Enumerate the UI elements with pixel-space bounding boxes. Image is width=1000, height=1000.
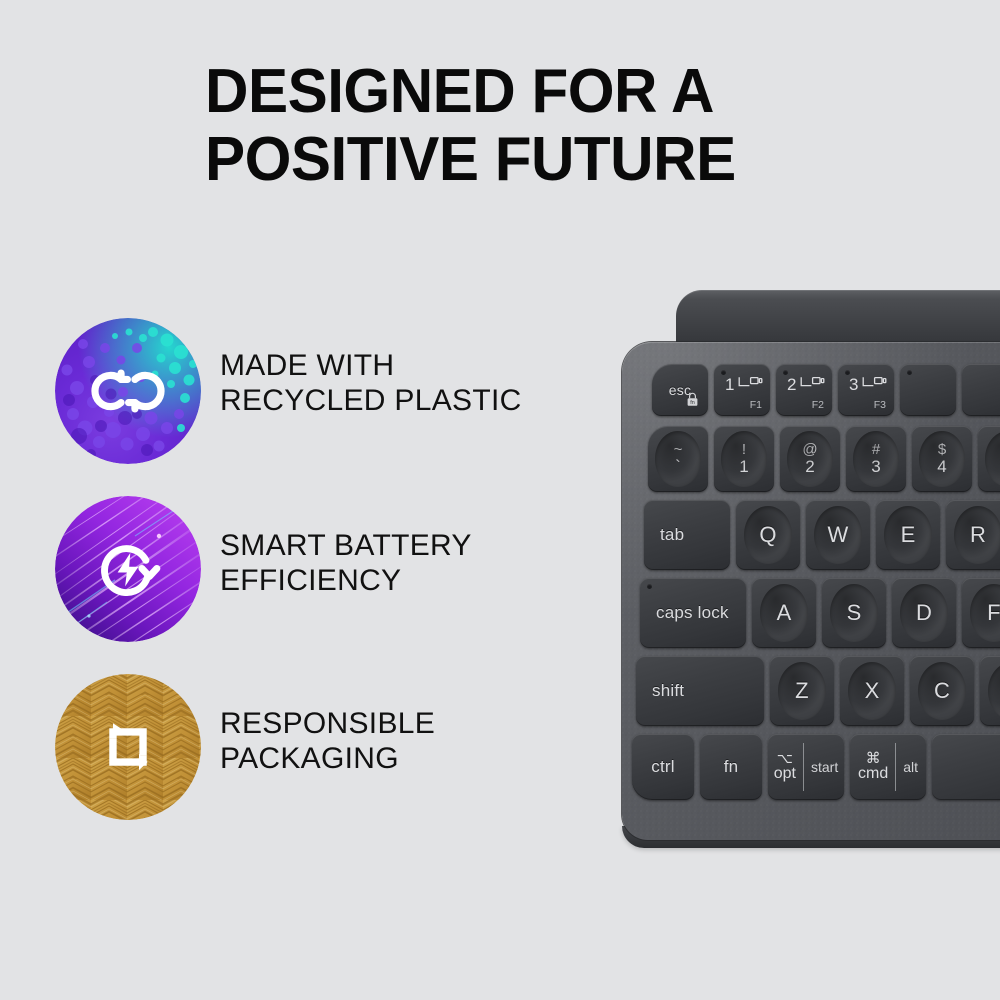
keyboard-key-grid: esc fn 1 [622, 342, 1000, 840]
caps-lock-led-indicator [647, 584, 652, 589]
key-w-label: W [828, 522, 849, 548]
key-5[interactable]: % 5 [978, 426, 1000, 492]
key-q[interactable]: Q [736, 500, 800, 570]
key-led-indicator [721, 370, 726, 375]
key-f2-number: 2 [787, 375, 796, 395]
key-f1-label: F1 [750, 399, 762, 411]
key-3-upper: # [872, 442, 880, 457]
badge-smart-battery [55, 496, 201, 642]
key-option-label: opt [774, 766, 796, 783]
key-e[interactable]: E [876, 500, 940, 570]
key-f2-device-2[interactable]: 2 F2 [776, 364, 832, 416]
key-d[interactable]: D [892, 578, 956, 648]
key-x[interactable]: X [840, 656, 904, 726]
key-f3-number: 3 [849, 375, 858, 395]
sustainability-feature-list: MADE WITH RECYCLED PLASTIC [55, 318, 615, 830]
key-a[interactable]: A [752, 578, 816, 648]
legend-divider [895, 743, 896, 792]
headline-line-1: DESIGNED FOR A [205, 57, 714, 126]
key-1-lower: 1 [739, 458, 748, 476]
modifier-row: ctrl fn ⌥ opt start [622, 734, 1000, 800]
badge-responsible-packaging [55, 674, 201, 820]
key-2-upper: @ [802, 442, 817, 457]
key-alt-label: alt [896, 751, 918, 784]
key-z-label: Z [795, 678, 809, 704]
number-row: ~ ` ! 1 @ 2 # 3 $ 4 [622, 426, 1000, 492]
key-tab-label: tab [644, 525, 684, 545]
key-fn[interactable]: fn [700, 734, 762, 800]
badge-recycled-plastic [55, 318, 201, 464]
key-4[interactable]: $ 4 [912, 426, 972, 492]
key-f2-label: F2 [812, 399, 824, 411]
key-fn-label: fn [724, 757, 739, 777]
key-d-label: D [916, 600, 932, 626]
page-title: DESIGNED FOR A POSITIVE FUTURE [205, 58, 903, 194]
shift-row: shift Z X C V B [622, 656, 1000, 726]
key-r[interactable]: R [946, 500, 1000, 570]
key-f-label: F [987, 600, 1000, 626]
device-switch-icon [737, 375, 763, 395]
command-symbol: ⌘ [866, 751, 881, 767]
key-led-indicator [845, 370, 850, 375]
key-f1-number: 1 [725, 375, 734, 395]
key-r-label: R [970, 522, 986, 548]
feature-item-recycled-plastic: MADE WITH RECYCLED PLASTIC [55, 318, 615, 474]
key-1[interactable]: ! 1 [714, 426, 774, 492]
key-f4[interactable] [900, 364, 956, 416]
key-ctrl-label: ctrl [651, 757, 674, 777]
device-switch-icon [861, 375, 887, 395]
option-symbol: ⌥ [777, 751, 793, 766]
feature-label-recycled-plastic: MADE WITH RECYCLED PLASTIC [220, 348, 522, 418]
key-v[interactable]: V [980, 656, 1000, 726]
key-c-label: C [934, 678, 950, 704]
key-tab[interactable]: tab [644, 500, 730, 570]
key-tilde-lower: ` [675, 458, 681, 476]
headline-line-2: POSITIVE FUTURE [205, 126, 903, 194]
key-4-upper: $ [938, 442, 946, 457]
wireless-keyboard-product: esc fn 1 [614, 290, 1000, 860]
feature-label-responsible-packaging: RESPONSIBLE PACKAGING [220, 706, 435, 776]
key-led-indicator [783, 370, 788, 375]
feature-item-smart-battery: SMART BATTERY EFFICIENCY [55, 496, 615, 652]
device-switch-icon [799, 375, 825, 395]
key-shift[interactable]: shift [636, 656, 764, 726]
key-2[interactable]: @ 2 [780, 426, 840, 492]
key-f[interactable]: F [962, 578, 1000, 648]
key-command-alt[interactable]: ⌘ cmd alt [850, 734, 926, 800]
key-s[interactable]: S [822, 578, 886, 648]
qwerty-row: tab Q W E R T [622, 500, 1000, 570]
key-shift-label: shift [636, 681, 684, 701]
key-f1-device-1[interactable]: 1 F1 [714, 364, 770, 416]
key-f3-device-3[interactable]: 3 F3 [838, 364, 894, 416]
fn-lock-icon: fn [686, 392, 699, 412]
key-1-upper: ! [742, 442, 746, 457]
key-2-lower: 2 [805, 458, 814, 476]
key-tilde[interactable]: ~ ` [648, 426, 708, 492]
key-esc[interactable]: esc fn [652, 364, 708, 416]
feature-label-smart-battery: SMART BATTERY EFFICIENCY [220, 528, 472, 598]
key-4-lower: 4 [937, 458, 946, 476]
product-feature-graphic: DESIGNED FOR A POSITIVE FUTURE [0, 0, 1000, 1000]
key-x-label: X [865, 678, 880, 704]
key-z[interactable]: Z [770, 656, 834, 726]
key-spacebar[interactable] [932, 734, 1000, 800]
function-row: esc fn 1 [622, 364, 1000, 416]
legend-divider [803, 743, 804, 790]
home-row: caps lock A S D F G [622, 578, 1000, 648]
battery-charge-cycle-icon [55, 496, 201, 642]
recycle-loop-icon [55, 318, 201, 464]
key-e-label: E [901, 522, 916, 548]
svg-text:fn: fn [690, 400, 695, 406]
key-q-label: Q [759, 522, 776, 548]
key-a-label: A [777, 600, 792, 626]
key-s-label: S [847, 600, 862, 626]
key-tilde-upper: ~ [674, 442, 683, 457]
key-start-label: start [804, 751, 838, 782]
key-ctrl[interactable]: ctrl [632, 734, 694, 800]
key-c[interactable]: C [910, 656, 974, 726]
key-option-start[interactable]: ⌥ opt start [768, 734, 844, 800]
key-led-indicator [907, 370, 912, 375]
key-w[interactable]: W [806, 500, 870, 570]
key-3[interactable]: # 3 [846, 426, 906, 492]
key-3-lower: 3 [871, 458, 880, 476]
package-reuse-icon [55, 674, 201, 820]
key-f5[interactable] [962, 364, 1000, 416]
key-f3-label: F3 [874, 399, 886, 411]
feature-item-responsible-packaging: RESPONSIBLE PACKAGING [55, 674, 615, 830]
key-caps-lock-label: caps lock [640, 603, 729, 623]
key-command-label: cmd [858, 766, 888, 783]
key-caps-lock[interactable]: caps lock [640, 578, 746, 648]
